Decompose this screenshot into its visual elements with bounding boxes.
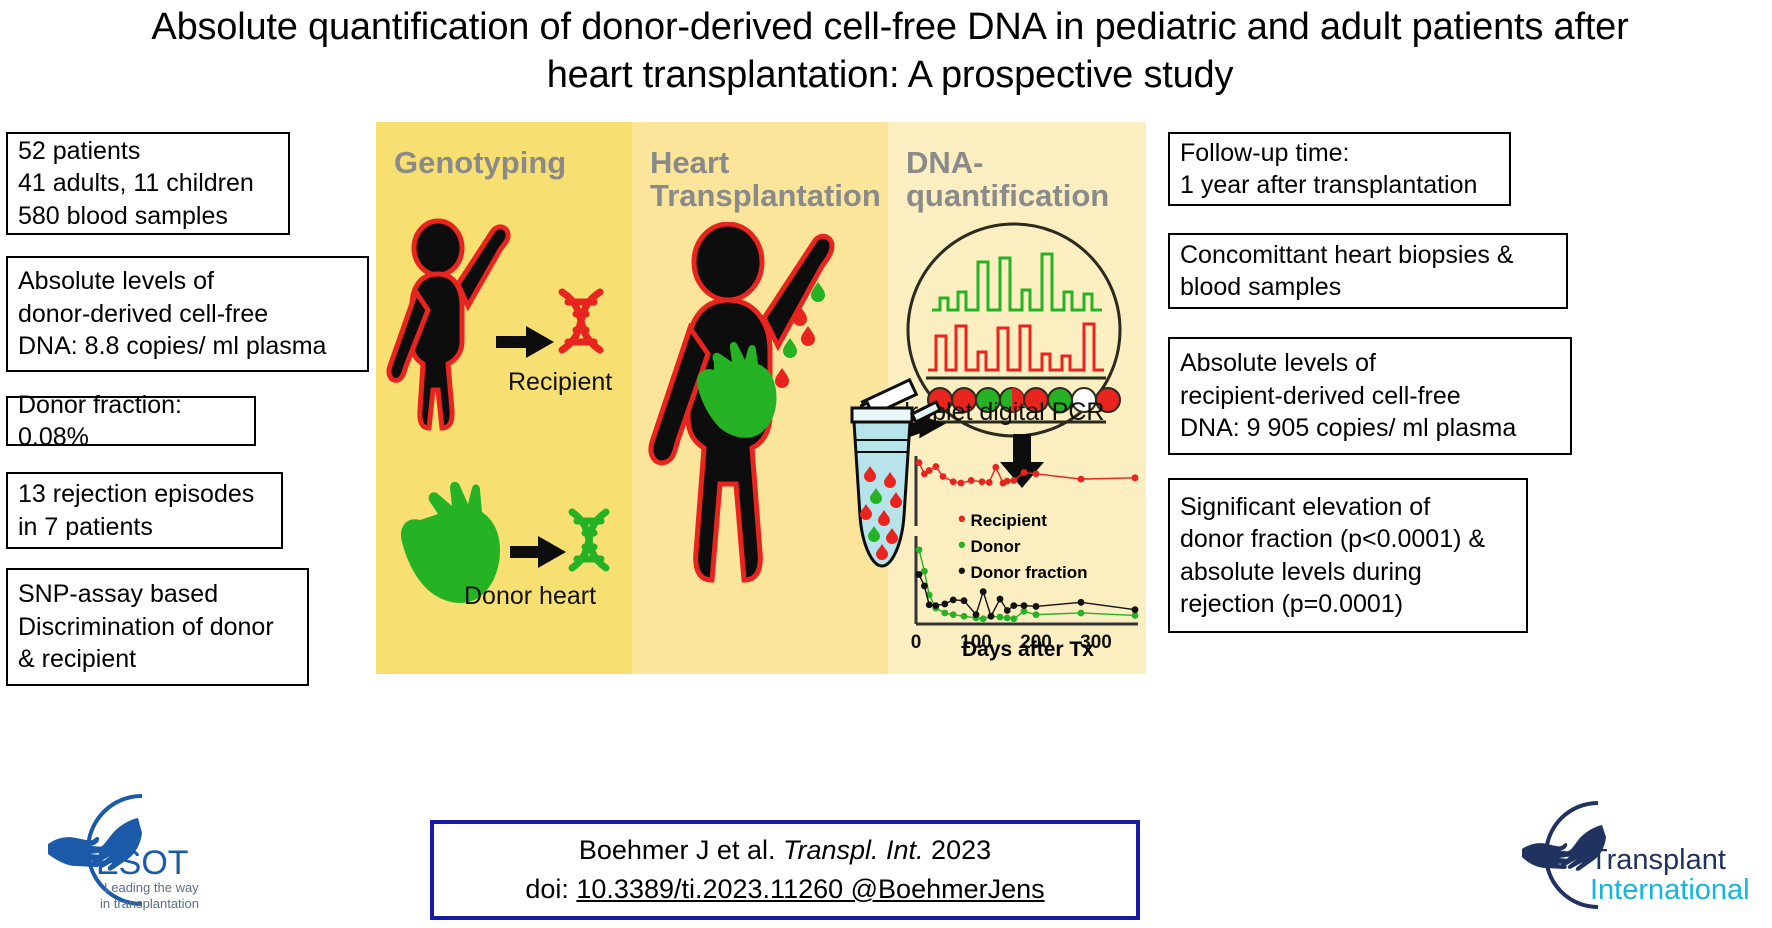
chart-point [980, 588, 987, 595]
chart-point [1078, 610, 1085, 617]
fact-line: donor-derived cell-free [18, 300, 268, 328]
fact-box-biopsies: Concomittant heart biopsies & blood samp… [1168, 233, 1568, 309]
chart-point [950, 611, 957, 618]
citation-year: 2023 [924, 835, 992, 865]
fact-box-donor-fraction: Donor fraction: 0.08% [6, 396, 256, 446]
chart-point [973, 611, 980, 618]
esot-logo: ESOT Leading the way in transplantation [30, 786, 250, 916]
chart-point [1010, 602, 1017, 609]
arrow-right-icon [510, 536, 566, 568]
chart-point [932, 602, 939, 609]
citation-journal: Transpl. Int. [783, 835, 924, 865]
chart-x-axis-label: Days after Tx [962, 638, 1094, 662]
fact-line: Donor fraction: 0.08% [18, 391, 182, 452]
esot-tagline-line2: in transplantation [100, 896, 199, 911]
panel-title-genotyping: Genotyping [394, 146, 566, 179]
fact-line: DNA: 8.8 copies/ ml plasma [18, 332, 326, 360]
legend-item-donor: • Donor [958, 532, 1088, 558]
citation-doi-prefix: doi: [525, 874, 576, 904]
chart-point [1004, 607, 1011, 614]
chart-point [979, 478, 986, 485]
esot-tagline-line1: Leading the way [104, 880, 199, 895]
dna-helix-donor-icon [572, 512, 606, 568]
panel-title-line: Genotyping [394, 145, 566, 180]
chart-point [1132, 474, 1139, 481]
chart-point [941, 610, 948, 617]
citation-box: Boehmer J et al. Transpl. Int. 2023 doi:… [430, 820, 1140, 920]
page-title: Absolute quantification of donor-derived… [120, 4, 1660, 99]
chart-point [1033, 470, 1040, 477]
chart-point [980, 615, 987, 622]
chart-point [1004, 478, 1011, 485]
panel-title-line: Heart [650, 145, 729, 180]
label-donor-heart: Donor heart [464, 582, 596, 611]
chart-point [1021, 602, 1028, 609]
fact-line: 1 year after transplantation [1180, 171, 1477, 199]
chart-point [961, 613, 968, 620]
citation-line-2: doi: 10.3389/ti.2023.11260 @BoehmerJens [525, 870, 1044, 909]
legend-label: Recipient [970, 511, 1047, 530]
fact-line: Concomittant heart biopsies & [1180, 241, 1514, 269]
chart-legend: • Recipient • Donor • Donor fraction [958, 506, 1088, 584]
arrow-right-icon [496, 326, 554, 358]
fact-line: blood samples [1180, 273, 1341, 301]
fact-line: 580 blood samples [18, 202, 228, 230]
fact-line: in 7 patients [18, 513, 153, 541]
fact-line: 13 rejection episodes [18, 480, 254, 508]
chart-point [992, 464, 999, 471]
chart-point [1078, 599, 1085, 606]
tube-lid [852, 408, 912, 422]
eppendorf-tube-illustration [824, 394, 944, 594]
citation-authors: Boehmer J et al. [579, 835, 783, 865]
chart-point [997, 614, 1004, 621]
chart-x-tick: 0 [911, 632, 922, 653]
fact-box-significant-elevation: Significant elevation of donor fraction … [1168, 478, 1528, 633]
chart-point [1132, 606, 1139, 613]
chart-point [1078, 476, 1085, 483]
chart-point [1010, 477, 1017, 484]
red-amplitude-trace [928, 324, 1104, 370]
legend-item-donor-fraction: • Donor fraction [958, 558, 1088, 584]
fact-line: 41 adults, 11 children [18, 169, 254, 197]
panel-genotyping: Genotyping [376, 122, 632, 674]
esot-logo-svg: ESOT Leading the way in transplantation [30, 786, 250, 916]
panel-title-line: quantification [906, 178, 1109, 213]
chart-point [950, 478, 957, 485]
fact-line: absolute levels during [1180, 558, 1422, 586]
ti-wordmark-line2: International [1590, 874, 1750, 906]
chart-point [1004, 615, 1011, 622]
dna-helix-recipient-icon [562, 292, 600, 350]
fact-box-absolute-recipient-levels: Absolute levels of recipient-derived cel… [1168, 337, 1572, 455]
fact-box-snp-assay: SNP-assay based Discrimination of donor … [6, 568, 309, 686]
chart-point [1033, 611, 1040, 618]
legend-label: Donor fraction [970, 563, 1087, 582]
chart-point [997, 596, 1004, 603]
chart-point [961, 597, 968, 604]
legend-item-recipient: • Recipient [958, 506, 1088, 532]
chart-point [986, 479, 993, 486]
fact-line: Significant elevation of [1180, 493, 1430, 521]
chart-point [988, 613, 995, 620]
tube-lid-hinge [912, 402, 940, 422]
citation-line-1: Boehmer J et al. Transpl. Int. 2023 [579, 831, 991, 870]
fact-line: rejection (p=0.0001) [1180, 590, 1403, 618]
transplant-international-logo: Transplant International [1520, 795, 1760, 913]
fact-box-patients: 52 patients 41 adults, 11 children 580 b… [6, 132, 290, 235]
fact-line: & recipient [18, 645, 136, 673]
fact-line: donor fraction (p<0.0001) & [1180, 525, 1485, 553]
fact-line: Absolute levels of [1180, 349, 1376, 377]
panel-title-line: Transplantation [650, 178, 881, 213]
person-silhouette-icon [389, 221, 508, 428]
ti-logo-svg: Transplant International [1520, 795, 1760, 913]
fact-line: Discrimination of donor [18, 613, 274, 641]
fact-line: DNA: 9 905 copies/ ml plasma [1180, 414, 1516, 442]
green-amplitude-trace [932, 254, 1102, 310]
fact-line: recipient-derived cell-free [1180, 382, 1461, 410]
fact-line: Absolute levels of [18, 267, 214, 295]
chart-point [950, 596, 957, 603]
chart-point [968, 477, 975, 484]
donor-illustration [376, 442, 632, 662]
fact-box-rejection-episodes: 13 rejection episodes in 7 patients [6, 472, 283, 549]
legend-label: Donor [970, 537, 1020, 556]
esot-wordmark: ESOT [96, 844, 189, 882]
fact-line: 52 patients [18, 137, 140, 165]
panel-title-transplantation: Heart Transplantation [650, 146, 881, 213]
ti-wordmark-line1: Transplant [1590, 844, 1726, 876]
fact-line: SNP-assay based [18, 580, 218, 608]
chart-point [1021, 469, 1028, 476]
chart-point [941, 601, 948, 608]
chart-point [1033, 603, 1040, 610]
chart-point [1010, 615, 1017, 622]
workflow-figure: Genotyping [376, 122, 1146, 674]
fact-box-absolute-donor-levels: Absolute levels of donor-derived cell-fr… [6, 256, 369, 372]
panel-title-line: DNA- [906, 145, 984, 180]
chart-point [958, 480, 965, 487]
chart-point [926, 601, 933, 608]
panel-title-quantification: DNA- quantification [906, 146, 1109, 213]
citation-doi-link[interactable]: 10.3389/ti.2023.11260 @BoehmerJens [576, 874, 1044, 904]
fact-line: Follow-up time: [1180, 139, 1350, 167]
label-recipient: Recipient [508, 368, 612, 397]
fact-box-followup-time: Follow-up time: 1 year after transplanta… [1168, 132, 1511, 206]
